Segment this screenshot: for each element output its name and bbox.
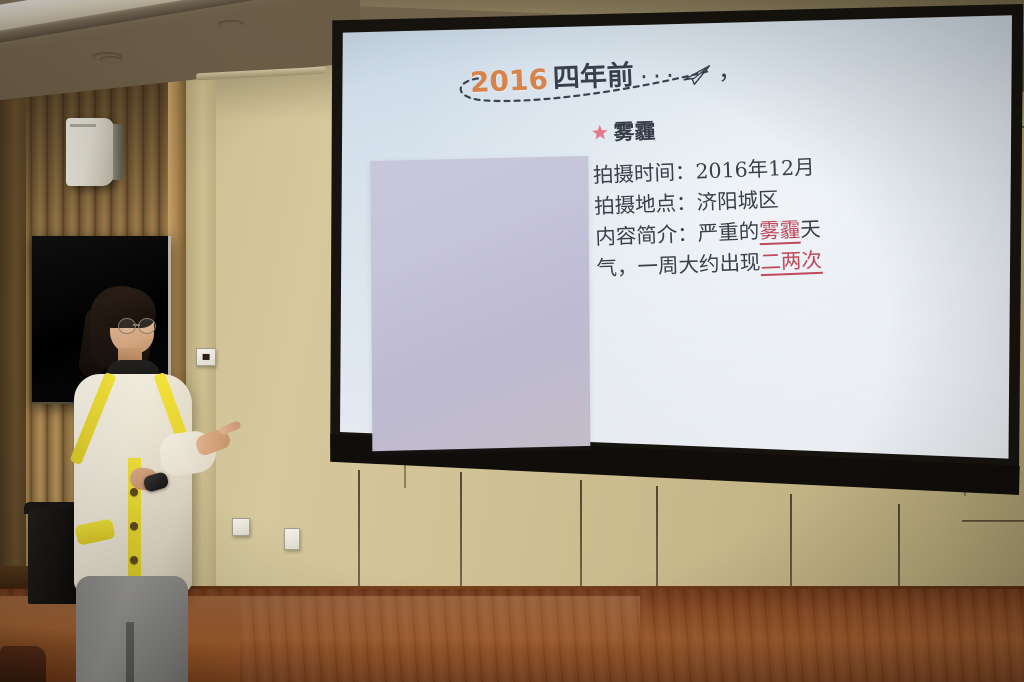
speaker-grille	[70, 124, 96, 127]
presenter	[56, 282, 226, 682]
chair-corner	[0, 646, 46, 682]
slide-heading: 雾霾	[591, 106, 892, 147]
slide-content: 2016 四年前 ··· ， 雾霾	[318, 0, 1024, 527]
description-prefix: 内容简介：严重的	[595, 219, 760, 249]
slide-photo-placeholder	[370, 156, 590, 451]
description-highlight-two: 二	[760, 250, 781, 277]
screenshot-scene: 2016 四年前 ··· ， 雾霾	[0, 0, 1024, 682]
cardigan-button	[130, 488, 138, 496]
lens-right	[138, 318, 156, 334]
description-highlight-smog: 雾霾	[759, 218, 801, 246]
slide-title-dots: ···	[637, 63, 677, 92]
ceiling-vent	[218, 20, 244, 28]
glasses-bridge	[133, 324, 140, 326]
wall-speaker	[66, 118, 114, 186]
cardigan-button	[130, 556, 138, 564]
wall-switch-plate[interactable]	[232, 518, 250, 536]
slide-heading-text: 雾霾	[613, 115, 656, 147]
wall-seam-horizontal	[962, 520, 1024, 522]
trouser-seam	[126, 622, 134, 682]
slide-title-comma: ，	[717, 50, 743, 88]
paper-plane-icon	[682, 64, 713, 87]
slide-title-chinese: 四年前	[552, 53, 635, 95]
cardigan-button	[130, 522, 138, 530]
slide-description: 内容简介：严重的雾霾天气，一周大约出现二两次	[595, 213, 847, 285]
ceiling-vent	[100, 56, 122, 63]
slide-title: 2016 四年前 ··· ，	[469, 48, 743, 99]
star-icon	[591, 123, 609, 141]
slide-title-year: 2016	[469, 63, 548, 99]
eyeglasses	[118, 318, 156, 333]
description-highlight-twice: 两次	[780, 248, 822, 276]
wall-outlet-plate[interactable]	[284, 528, 300, 550]
slide-text-block: 雾霾 拍摄时间：2016年12月 拍摄地点：济阳城区 内容简介：严重的雾霾天气，…	[591, 106, 897, 285]
lens-left	[118, 318, 136, 334]
projection-screen: 2016 四年前 ··· ， 雾霾	[326, 4, 1024, 516]
